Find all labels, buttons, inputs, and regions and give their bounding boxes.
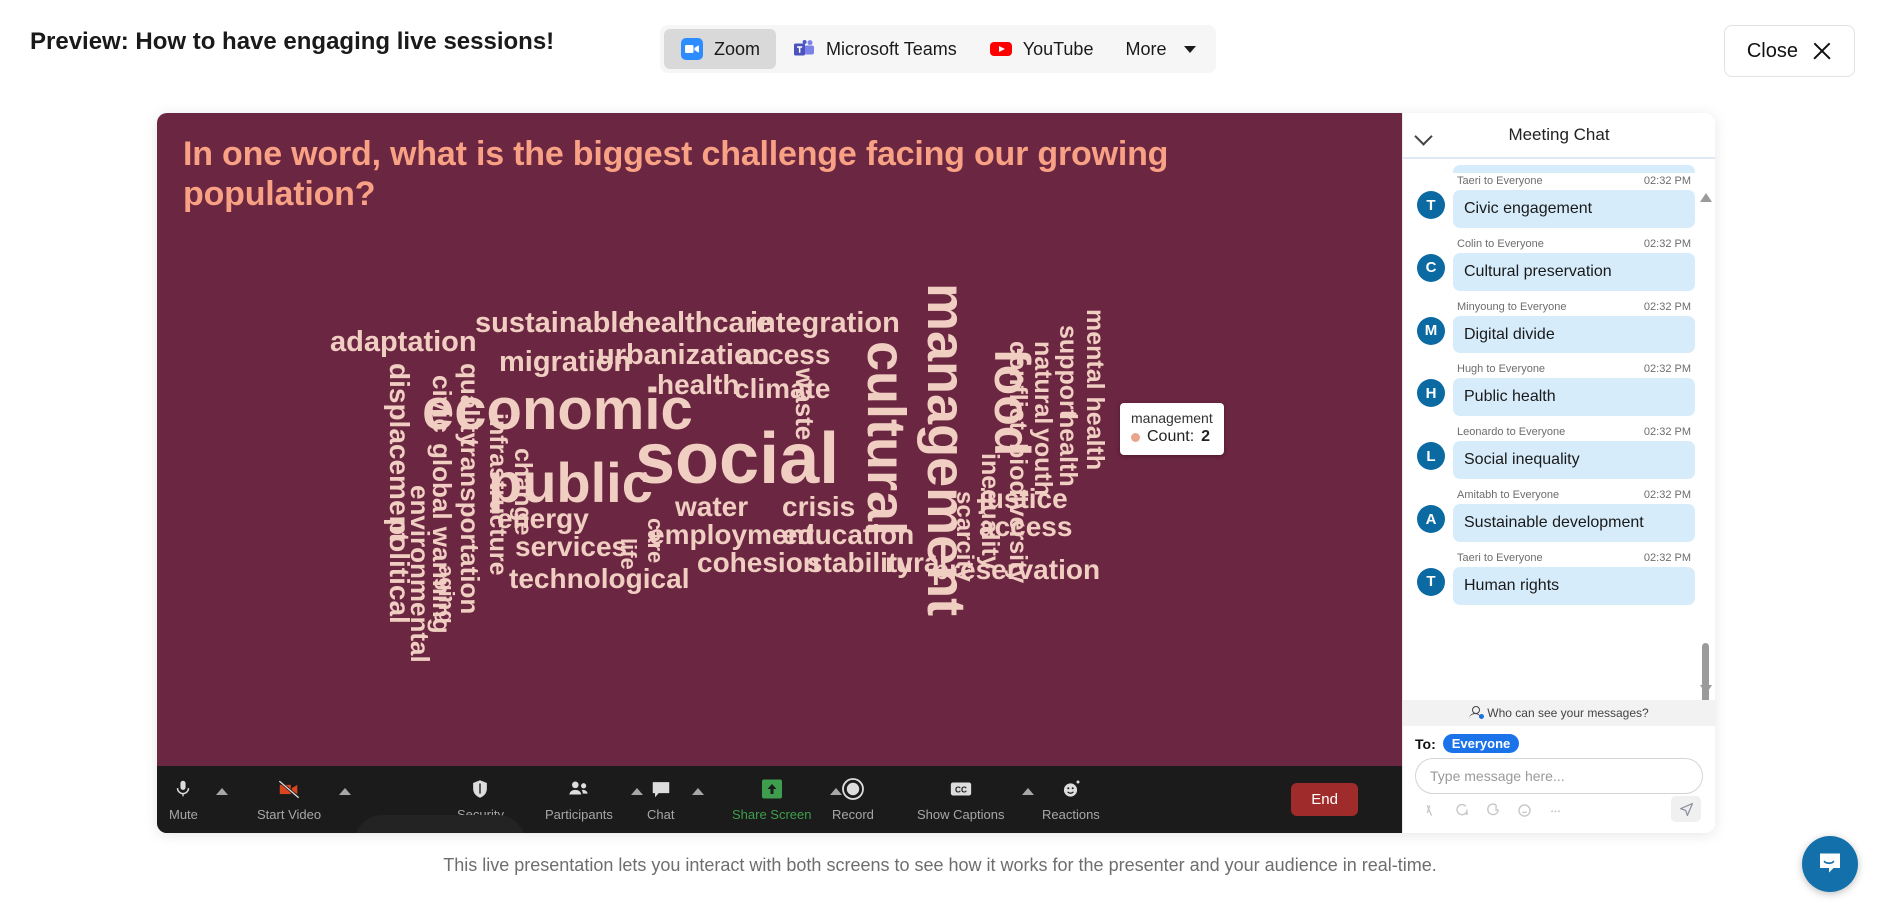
tab-zoom-label: Zoom [714,39,760,60]
chat-message-sender: Leonardo to Everyone [1457,426,1565,438]
microsoft-teams-icon [792,37,816,61]
preview-stage: In one word, what is the biggest challen… [157,113,1715,833]
chat-message: HHugh to Everyone02:32 PMPublic health [1417,363,1695,416]
zoom-control-label: Share Screen [732,807,812,822]
chat-message: CColin to Everyone02:32 PMCultural prese… [1417,238,1695,291]
zoom-control-record[interactable]: Record [832,766,874,833]
chat-header: Meeting Chat [1403,113,1715,159]
tooltip-count-value: 2 [1201,428,1210,446]
video-off-icon [277,777,301,801]
word-cloud-word[interactable]: civic [429,375,455,433]
word-cloud-word[interactable]: health [657,371,739,399]
who-can-see-button[interactable]: Who can see your messages? [1403,700,1715,726]
word-cloud-word[interactable]: mental health [1082,309,1107,470]
chat-to-label: To: [1415,736,1436,752]
word-cloud-word[interactable]: access [737,341,830,369]
participants-icon [567,777,591,801]
tab-microsoft-teams[interactable]: Microsoft Teams [776,29,973,69]
word-cloud-word[interactable]: natural [1030,341,1055,424]
chat-input-toolbar [1403,794,1715,833]
chat-message-partial [1453,165,1695,173]
chat-bubble-icon [650,777,672,801]
chat-message-text[interactable]: Cultural preservation [1453,253,1695,291]
tooltip-count-label: Count: [1147,428,1194,446]
chat-message-time: 02:32 PM [1644,426,1691,438]
zoom-control-start-video[interactable]: Start Video [257,766,321,833]
zoom-control-caret-mute[interactable] [216,788,228,795]
close-button-label: Close [1747,40,1798,63]
zoom-control-label: Start Video [257,807,321,822]
microphone-icon [172,777,194,801]
page-number: 3 [434,832,445,833]
chat-message-text[interactable]: Digital divide [1453,316,1695,354]
zoom-control-label: Show Captions [917,807,1004,822]
word-cloud-word[interactable]: technological [509,565,689,593]
word-cloud-word[interactable]: support [1055,325,1080,418]
tab-microsoft-teams-label: Microsoft Teams [826,39,957,60]
emoji-icon[interactable] [1516,802,1533,823]
chat-message-list[interactable]: TTaeri to Everyone02:32 PMCivic engageme… [1403,159,1715,700]
word-cloud-word[interactable]: preservation [932,556,1100,584]
zoom-control-mute[interactable]: Mute [169,766,198,833]
chat-message: LLeonardo to Everyone02:32 PMSocial ineq… [1417,426,1695,479]
chevron-down-icon [1184,46,1196,53]
zoom-control-show-captions[interactable]: CCShow Captions [917,766,1004,833]
scroll-down-icon[interactable] [1700,685,1712,694]
share-screen-icon [760,777,784,801]
chat-message-text[interactable]: Sustainable development [1453,504,1695,542]
intercom-chat-icon [1816,848,1844,881]
page-title-text: How to have engaging live sessions! [135,28,554,55]
chat-message: MMinyoung to Everyone02:32 PMDigital div… [1417,301,1695,354]
reactions-icon [1059,777,1083,801]
record-icon [841,777,865,801]
closed-captions-icon: CC [949,777,973,801]
scroll-up-icon[interactable] [1700,193,1712,202]
chat-message-time: 02:32 PM [1644,238,1691,250]
avatar: L [1417,442,1445,470]
chat-message-text[interactable]: Human rights [1453,567,1695,605]
top-bar: Preview: How to have engaging live sessi… [0,0,1880,88]
chat-message: AAmitabh to Everyone02:32 PMSustainable … [1417,489,1695,542]
tab-youtube-label: YouTube [1023,39,1094,60]
zoom-control-label: Record [832,807,874,822]
tooltip-dot-icon [1131,433,1140,442]
chat-input-placeholder: Type message here... [1430,768,1565,784]
tab-youtube[interactable]: YouTube [973,29,1110,69]
word-cloud-word[interactable]: water [675,493,748,521]
zoom-control-label: Participants [545,807,613,822]
file-icon[interactable] [1485,802,1502,823]
zoom-control-caret-chat[interactable] [692,788,704,795]
word-cloud-word[interactable]: transportation [457,438,483,614]
chevron-down-icon[interactable] [1415,127,1431,143]
chat-message: TTaeri to Everyone02:32 PMCivic engageme… [1417,175,1695,228]
word-cloud-word[interactable]: crisis [782,493,855,521]
word-cloud-word[interactable]: education [782,521,914,549]
screenshot-icon[interactable] [1454,802,1471,823]
chat-title: Meeting Chat [1508,125,1609,145]
zoom-control-label: Mute [169,807,198,822]
zoom-control-bar: MuteStart VideoSecurityParticipantsChatS… [157,766,1402,833]
avatar: T [1417,568,1445,596]
chat-message: TTaeri to Everyone02:32 PMHuman rights [1417,552,1695,605]
youtube-icon [989,37,1013,61]
word-cloud-word[interactable]: environmental [407,485,433,663]
tab-more[interactable]: More [1109,29,1212,69]
stage-caption: This live presentation lets you interact… [0,855,1880,876]
who-can-see-label: Who can see your messages? [1487,706,1648,720]
slide-pager: 3 [354,815,526,833]
word-cloud-word[interactable]: adaptation [330,328,477,357]
chat-message-sender: Taeri to Everyone [1457,552,1543,564]
chat-scrollbar[interactable] [1700,193,1711,694]
avatar: A [1417,505,1445,533]
chat-message-sender: Hugh to Everyone [1457,363,1545,375]
tab-zoom[interactable]: Zoom [664,29,776,69]
avatar: H [1417,379,1445,407]
zoom-control-caret-participants[interactable] [631,788,643,795]
word-cloud-word[interactable]: integration [750,309,900,338]
support-chat-button[interactable] [1802,836,1858,892]
tab-more-label: More [1125,39,1166,60]
word-cloud-word[interactable]: aging [435,565,457,624]
zoom-control-caret-show-captions[interactable] [1022,788,1034,795]
chat-message-sender: Amitabh to Everyone [1457,489,1559,501]
word-cloud-word[interactable]: energy [497,505,589,533]
tooltip-word: management [1131,410,1213,426]
chat-recipient-chip[interactable]: Everyone [1443,734,1520,753]
chat-message-input[interactable]: Type message here... [1415,758,1703,794]
meeting-chat-panel: Meeting Chat TTaeri to Everyone02:32 PMC… [1402,113,1715,833]
zoom-control-chat[interactable]: Chat [647,766,674,833]
chat-message-text[interactable]: Civic engagement [1453,190,1695,228]
word-cloud-word[interactable]: health [1055,413,1080,487]
word-cloud-word[interactable]: cultural [859,341,913,536]
zoom-control-reactions[interactable]: Reactions [1042,766,1100,833]
zoom-control-label: Chat [647,807,674,822]
zoom-control-participants[interactable]: Participants [545,766,613,833]
page-title: Preview: How to have engaging live sessi… [30,28,554,56]
chat-recipient-row: To: Everyone [1403,726,1715,758]
chat-message-sender: Minyoung to Everyone [1457,301,1566,313]
person-icon [1469,706,1483,720]
end-meeting-button[interactable]: End [1291,783,1358,816]
word-cloud-word[interactable]: infrastructure [485,413,510,576]
chat-message-time: 02:32 PM [1644,363,1691,375]
tooltip-count-row: Count: 2 [1131,428,1213,446]
chat-message-time: 02:32 PM [1644,301,1691,313]
word-cloud-word[interactable]: sustainable [475,309,635,338]
avatar: M [1417,317,1445,345]
chat-message-text[interactable]: Public health [1453,378,1695,416]
chat-message-time: 02:32 PM [1644,552,1691,564]
close-button[interactable]: Close [1724,25,1855,77]
slide-canvas: In one word, what is the biggest challen… [157,113,1402,833]
page-title-prefix: Preview: [30,28,135,55]
word-cloud-word[interactable]: climate [734,375,831,403]
word-cloud-word[interactable]: quality [457,363,483,447]
send-button[interactable] [1671,796,1701,822]
zoom-control-label: Reactions [1042,807,1100,822]
avatar: C [1417,254,1445,282]
platform-tab-group: Zoom Microsoft Teams YouTube More [660,25,1216,73]
zoom-control-share-screen[interactable]: Share Screen [732,766,812,833]
svg-text:CC: CC [955,784,967,794]
chat-message-text[interactable]: Social inequality [1453,441,1695,479]
word-cloud-word[interactable]: conflict [1005,341,1030,430]
zoom-icon [680,37,704,61]
chat-message-time: 02:32 PM [1644,175,1691,187]
chat-message-time: 02:32 PM [1644,489,1691,501]
shield-icon [469,777,491,801]
word-cloud-word[interactable]: cohesion [697,549,820,577]
word-cloud-word[interactable]: services [515,533,627,561]
avatar: T [1417,191,1445,219]
more-icon[interactable] [1547,802,1564,823]
chat-message-sender: Taeri to Everyone [1457,175,1543,187]
zoom-control-caret-start-video[interactable] [339,788,351,795]
word-cloud-tooltip: management Count: 2 [1120,403,1224,455]
format-icon[interactable] [1423,802,1440,823]
close-icon [1812,41,1832,61]
word-cloud-word[interactable]: access [979,513,1072,541]
chat-message-sender: Colin to Everyone [1457,238,1544,250]
word-cloud-word[interactable]: justice [979,485,1068,513]
